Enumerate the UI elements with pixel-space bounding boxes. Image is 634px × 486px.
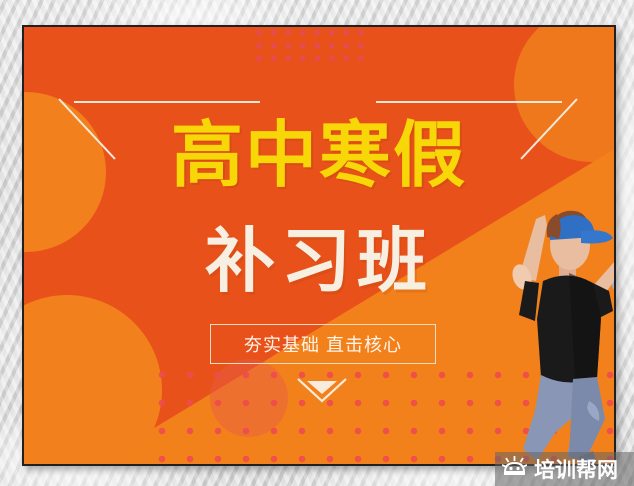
poster-title-line2: 补习班 (24, 226, 614, 296)
promo-poster: 高中寒假 补习班 夯实基础 直击核心 (22, 25, 616, 466)
sun-face-icon (502, 456, 527, 483)
poster-canvas: 高中寒假 补习班 夯实基础 直击核心 (24, 27, 614, 464)
poster-title-line1: 高中寒假 (24, 120, 614, 192)
poster-subtitle-box: 夯实基础 直击核心 (210, 324, 436, 364)
watermark-text: 培训帮网 (534, 454, 618, 484)
decor-circle-bottom-left (24, 295, 162, 464)
chevron-down-icon (294, 375, 350, 405)
screenshot-root: 高中寒假 补习班 夯实基础 直击核心 (0, 0, 634, 486)
pink-dot-grid (252, 27, 364, 67)
watermark: 培训帮网 (495, 452, 634, 486)
poster-subtitle-text: 夯实基础 直击核心 (244, 331, 402, 357)
